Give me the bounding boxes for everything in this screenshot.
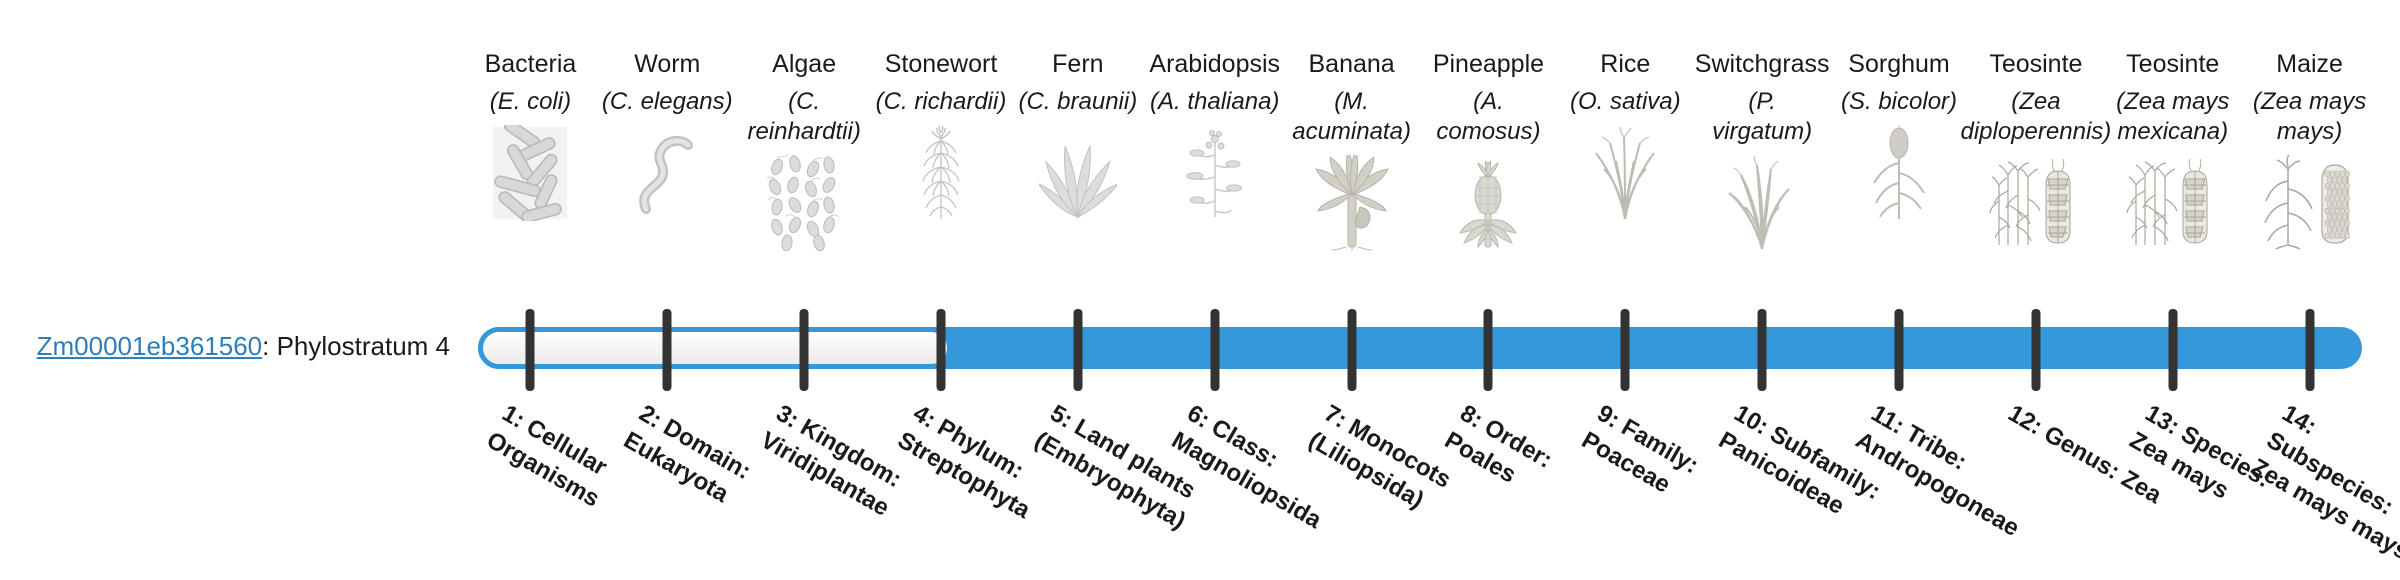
rank-cell: 2: Domain: Eukaryota: [599, 396, 736, 580]
rank-cell: 13: Species: Zea mays: [2104, 396, 2241, 580]
sorghum-illustration: [1860, 125, 1938, 221]
tick-mark: [1210, 309, 1219, 391]
rank-text: Subspecies: Zea mays mays: [2246, 427, 2400, 566]
species-common-name: Stonewort: [885, 48, 998, 81]
rank-index: 2:: [635, 400, 667, 434]
progress-tick[interactable]: [1009, 305, 1146, 395]
algae-illustration: [765, 155, 843, 251]
species-header-row: Bacteria(E. coli) Worm(C. elegans) Algae…: [462, 48, 2378, 308]
tick-mark: [1073, 309, 1082, 391]
species-common-name: Sorghum: [1848, 48, 1949, 81]
species-scientific-name: (C. richardii): [874, 87, 1009, 117]
rank-cell: 4: Phylum: Streptophyta: [873, 396, 1010, 580]
progress-tick[interactable]: [2241, 305, 2378, 395]
species-common-name: Arabidopsis: [1149, 48, 1280, 81]
tick-mark: [1347, 309, 1356, 391]
rank-cell: 5: Land plants (Embryophyta): [1009, 396, 1146, 580]
tick-mark: [2031, 309, 2040, 391]
rank-cell: 3: Kingdom: Viridiplantae: [736, 396, 873, 580]
species-column: Teosinte(Zea mays mexicana): [2104, 48, 2241, 251]
species-scientific-name: (P. virgatum): [1694, 87, 1831, 147]
species-common-name: Algae: [772, 48, 836, 81]
progress-tick[interactable]: [2104, 305, 2241, 395]
stonewort-illustration: [902, 125, 980, 221]
tick-mark: [800, 309, 809, 391]
arabidopsis-illustration: [1176, 125, 1254, 221]
rank-cell: 9: Family: Poaceae: [1557, 396, 1694, 580]
rank-cell: 14: Subspecies: Zea mays mays: [2241, 396, 2378, 580]
gene-accession-link[interactable]: Zm00001eb361560: [37, 331, 263, 361]
tick-mark: [2305, 309, 2314, 391]
rank-cell: 10: Subfamily: Panicoideae: [1694, 396, 1831, 580]
species-common-name: Rice: [1600, 48, 1650, 81]
progress-tick[interactable]: [1694, 305, 1831, 395]
species-common-name: Teosinte: [2126, 48, 2219, 81]
tick-mark: [937, 309, 946, 391]
species-illustration: [1723, 153, 1801, 251]
maize-plant-and-ear-illustration: [2262, 155, 2358, 251]
pineapple-illustration: [1449, 155, 1527, 251]
banana-illustration: [1313, 155, 1391, 251]
progress-tick[interactable]: [1967, 305, 2104, 395]
phylostratum-progress-bar[interactable]: [462, 305, 2378, 395]
progress-tick[interactable]: [1146, 305, 1283, 395]
progress-tick[interactable]: [736, 305, 873, 395]
species-column: Algae(C. reinhardtii): [736, 48, 873, 251]
progress-tick[interactable]: [462, 305, 599, 395]
tick-mark: [1758, 309, 1767, 391]
progress-tick[interactable]: [1420, 305, 1557, 395]
species-scientific-name: (C. reinhardtii): [736, 87, 873, 147]
rank-index: 4:: [909, 400, 941, 434]
species-scientific-name: (A. thaliana): [1148, 87, 1281, 117]
teosinte-plant-and-ear-illustration: [1988, 155, 2084, 251]
species-column: Stonewort(C. richardii): [873, 48, 1010, 221]
progress-tick[interactable]: [1283, 305, 1420, 395]
species-scientific-name: (C. elegans): [600, 87, 735, 117]
switchgrass-illustration: [1723, 155, 1801, 251]
species-scientific-name: (Zea mays mexicana): [2104, 87, 2241, 147]
progress-tick-group: [462, 305, 2378, 395]
species-illustration: [1988, 153, 2084, 251]
tick-mark: [2168, 309, 2177, 391]
rank-index: 9:: [1593, 400, 1625, 434]
progress-tick[interactable]: [1557, 305, 1694, 395]
gene-phylostratum-label: Zm00001eb361560: Phylostratum 4: [30, 331, 450, 361]
gene-label-separator: :: [262, 331, 276, 361]
progress-tick[interactable]: [599, 305, 736, 395]
species-illustration: [1313, 153, 1391, 251]
rank-cell: 6: Class: Magnoliopsida: [1146, 396, 1283, 580]
species-illustration: [1039, 123, 1117, 221]
species-column: Maize(Zea mays mays): [2241, 48, 2378, 251]
species-common-name: Banana: [1308, 48, 1394, 81]
bacteria-illustration: [491, 125, 569, 221]
tick-mark: [663, 309, 672, 391]
teosinte-plant-and-ear-illustration: [2125, 155, 2221, 251]
species-illustration: [765, 153, 843, 251]
species-scientific-name: (Zea mays mays): [2241, 87, 2378, 147]
species-column: Banana(M. acuminata): [1283, 48, 1420, 251]
fern-illustration: [1039, 125, 1117, 221]
species-scientific-name: (S. bicolor): [1839, 87, 1959, 117]
species-column: Teosinte(Zea diploperennis): [1967, 48, 2104, 251]
rank-cell: 8: Order: Poales: [1420, 396, 1557, 580]
species-column: Fern(C. braunii): [1009, 48, 1146, 221]
worm-illustration: [628, 125, 706, 221]
rank-cell: 1: Cellular Organisms: [462, 396, 599, 580]
species-column: Bacteria(E. coli): [462, 48, 599, 221]
species-illustration: [902, 123, 980, 221]
species-scientific-name: (Zea diploperennis): [1959, 87, 2114, 147]
rank-index: 7:: [1319, 400, 1351, 434]
species-illustration: [2262, 153, 2358, 251]
rank-index: 6:: [1182, 400, 1214, 434]
species-scientific-name: (M. acuminata): [1283, 87, 1420, 147]
species-illustration: [491, 123, 569, 221]
species-scientific-name: (C. braunii): [1017, 87, 1140, 117]
rice-illustration: [1586, 125, 1664, 221]
species-common-name: Pineapple: [1433, 48, 1544, 81]
species-scientific-name: (O. sativa): [1568, 87, 1683, 117]
species-column: Arabidopsis(A. thaliana): [1146, 48, 1283, 221]
species-common-name: Switchgrass: [1695, 48, 1830, 81]
species-common-name: Worm: [634, 48, 700, 81]
phylostratum-widget: Zm00001eb361560: Phylostratum 4 Bacteria…: [0, 0, 2400, 580]
tick-mark: [1621, 309, 1630, 391]
species-illustration: [1586, 123, 1664, 221]
species-column: Worm(C. elegans): [599, 48, 736, 221]
species-illustration: [1176, 123, 1254, 221]
rank-cell: 12: Genus: Zea: [1967, 396, 2104, 580]
species-common-name: Fern: [1052, 48, 1103, 81]
species-scientific-name: (A. comosus): [1420, 87, 1557, 147]
tick-mark: [1895, 309, 1904, 391]
rank-index: 3:: [772, 400, 804, 434]
tick-mark: [526, 309, 535, 391]
rank-text: Family: Poaceae: [1577, 414, 1703, 499]
species-scientific-name: (E. coli): [488, 87, 573, 117]
rank-cell: 7: Monocots (Liliopsida): [1283, 396, 1420, 580]
species-common-name: Maize: [2276, 48, 2343, 81]
rank-cell: 11: Tribe: Andropogoneae: [1831, 396, 1968, 580]
rank-label-row: 1: Cellular Organisms2: Domain: Eukaryot…: [462, 396, 2378, 580]
phylostratum-value-text: Phylostratum 4: [277, 331, 450, 361]
species-column: Rice(O. sativa): [1557, 48, 1694, 221]
species-illustration: [1449, 153, 1527, 251]
progress-tick[interactable]: [873, 305, 1010, 395]
rank-index: 5:: [1045, 400, 1077, 434]
species-illustration: [628, 123, 706, 221]
species-column: Sorghum(S. bicolor): [1831, 48, 1968, 221]
rank-text: Cellular Organisms: [482, 414, 611, 513]
species-column: Pineapple(A. comosus): [1420, 48, 1557, 251]
tick-mark: [1484, 309, 1493, 391]
species-common-name: Teosinte: [1989, 48, 2082, 81]
species-column: Switchgrass(P. virgatum): [1694, 48, 1831, 251]
species-illustration: [2125, 153, 2221, 251]
rank-label: 14: Subspecies: Zea mays mays: [2245, 398, 2400, 569]
rank-index: 12:: [2003, 400, 2047, 441]
progress-tick[interactable]: [1831, 305, 1968, 395]
species-common-name: Bacteria: [485, 48, 577, 81]
species-illustration: [1860, 123, 1938, 221]
